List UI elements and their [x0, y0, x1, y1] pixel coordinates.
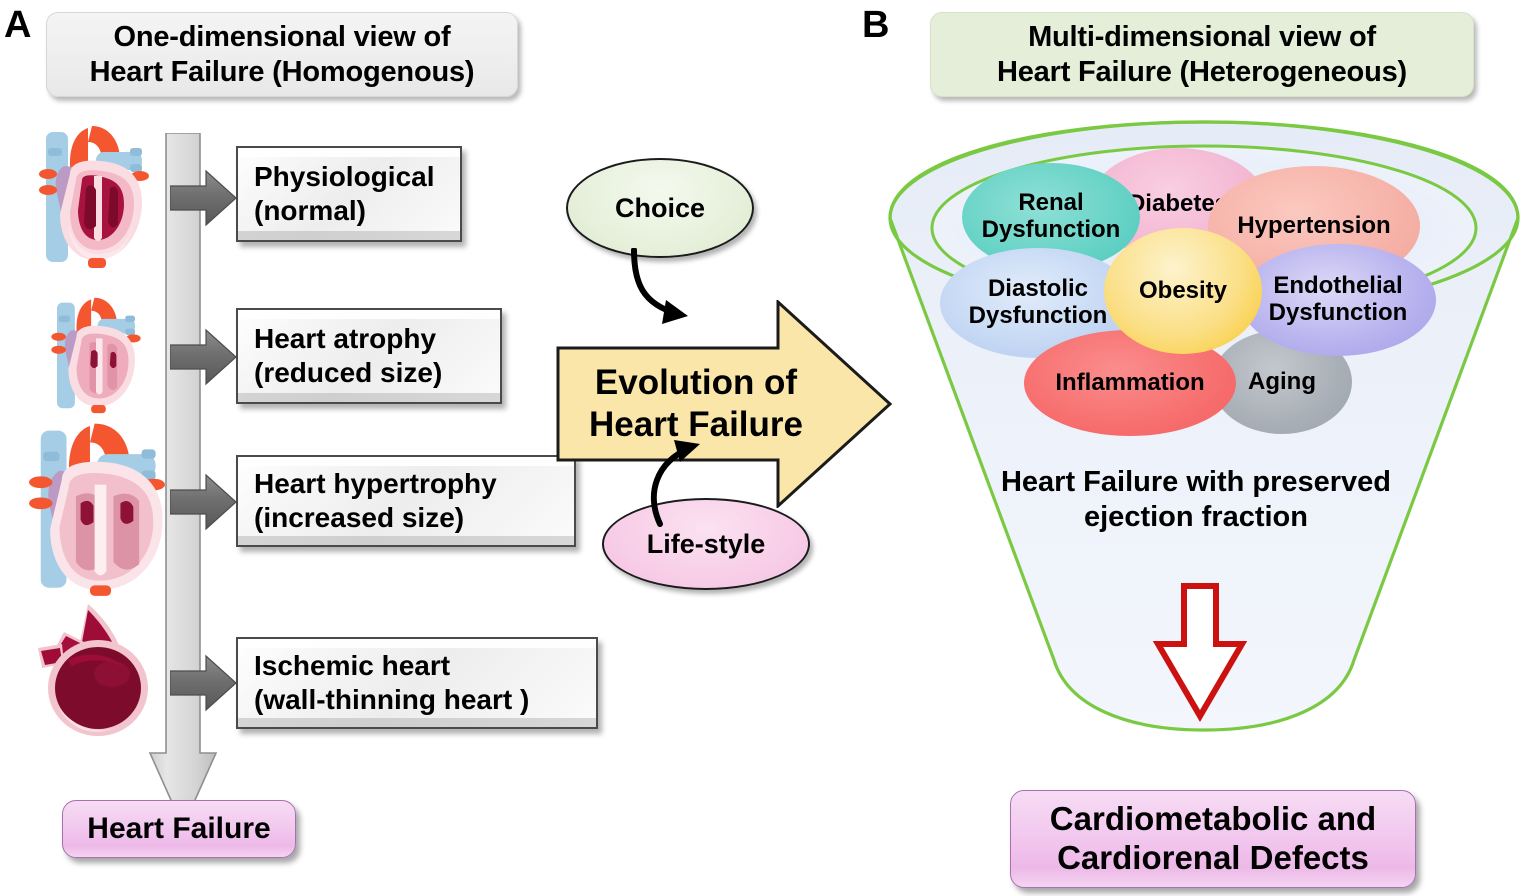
bubble-endothelial-line1: Endothelial — [1273, 272, 1402, 299]
panel-a-letter: A — [4, 6, 31, 44]
hypertrophied-heart-illustration — [22, 418, 172, 598]
normal-heart-illustration — [30, 118, 158, 270]
choice-oval: Choice — [566, 158, 754, 258]
label-box-heart-hypertrophy: Heart hypertrophy (increased size) — [236, 455, 576, 547]
bubble-aging-label: Aging — [1248, 369, 1316, 396]
row-arrow-4 — [170, 653, 238, 713]
panel-a-outcome-label: Heart Failure — [87, 811, 270, 846]
bubble-endothelial-line2: Dysfunction — [1269, 299, 1408, 326]
red-down-arrow-icon — [1152, 582, 1248, 722]
label-ischemic-line2: (wall-thinning heart ) — [254, 683, 529, 717]
panel-b-outcome-line2: Cardiorenal Defects — [1050, 839, 1376, 878]
label-box-physiological: Physiological (normal) — [236, 146, 462, 242]
panel-a-header-line2: Heart Failure (Homogenous) — [90, 55, 475, 89]
atrophied-heart-illustration — [44, 290, 148, 416]
panel-b-header-line1: Multi-dimensional view of — [997, 20, 1407, 54]
figure-canvas: A B One-dimensional view of Heart Failur… — [0, 0, 1535, 896]
label-physiological-line2: (normal) — [254, 194, 435, 228]
label-atrophy-line2: (reduced size) — [254, 356, 442, 390]
label-box-heart-atrophy: Heart atrophy (reduced size) — [236, 308, 502, 404]
panel-b-header-line2: Heart Failure (Heterogeneous) — [997, 55, 1407, 89]
choice-to-evolution-connector-arrow — [620, 248, 760, 348]
panel-b-outcome-line1: Cardiometabolic and — [1050, 800, 1376, 839]
bubble-obesity: Obesity — [1104, 228, 1262, 354]
label-hypertrophy-line1: Heart hypertrophy — [254, 467, 497, 501]
label-atrophy-line1: Heart atrophy — [254, 322, 442, 356]
panel-a-header: One-dimensional view of Heart Failure (H… — [46, 12, 518, 97]
bubble-diastolic-line2: Dysfunction — [969, 302, 1108, 329]
bubble-renal-line2: Dysfunction — [982, 216, 1121, 243]
label-ischemic-line1: Ischemic heart — [254, 649, 529, 683]
panel-b-header: Multi-dimensional view of Heart Failure … — [930, 12, 1474, 97]
hfpef-text: Heart Failure with preserved ejection fr… — [986, 465, 1406, 536]
panel-b-outcome-defects: Cardiometabolic and Cardiorenal Defects — [1010, 790, 1416, 888]
hfpef-line2: ejection fraction — [986, 500, 1406, 535]
panel-a-header-line1: One-dimensional view of — [90, 20, 475, 54]
label-physiological-line1: Physiological — [254, 160, 435, 194]
bubble-inflammation-label: Inflammation — [1055, 370, 1204, 397]
panel-b-letter: B — [862, 6, 889, 44]
bubble-hypertension-label: Hypertension — [1237, 213, 1390, 240]
label-hypertrophy-line2: (increased size) — [254, 501, 497, 535]
lifestyle-to-evolution-connector-arrow — [636, 432, 776, 528]
panel-a-outcome-heart-failure: Heart Failure — [62, 800, 296, 858]
row-arrow-3 — [170, 472, 238, 532]
bubble-endothelial-dysfunction: Endothelial Dysfunction — [1240, 244, 1436, 356]
hfpef-line1: Heart Failure with preserved — [986, 465, 1406, 500]
bubble-renal-line1: Renal — [1018, 189, 1083, 216]
ischemic-heart-illustration — [28, 598, 158, 740]
row-arrow-2 — [170, 327, 238, 387]
row-arrow-1 — [170, 168, 238, 228]
bubble-diastolic-line1: Diastolic — [988, 275, 1088, 302]
label-box-ischemic-heart: Ischemic heart (wall-thinning heart ) — [236, 637, 598, 729]
lifestyle-label: Life-style — [647, 529, 766, 560]
choice-label: Choice — [615, 193, 705, 224]
bubble-obesity-label: Obesity — [1139, 278, 1227, 305]
